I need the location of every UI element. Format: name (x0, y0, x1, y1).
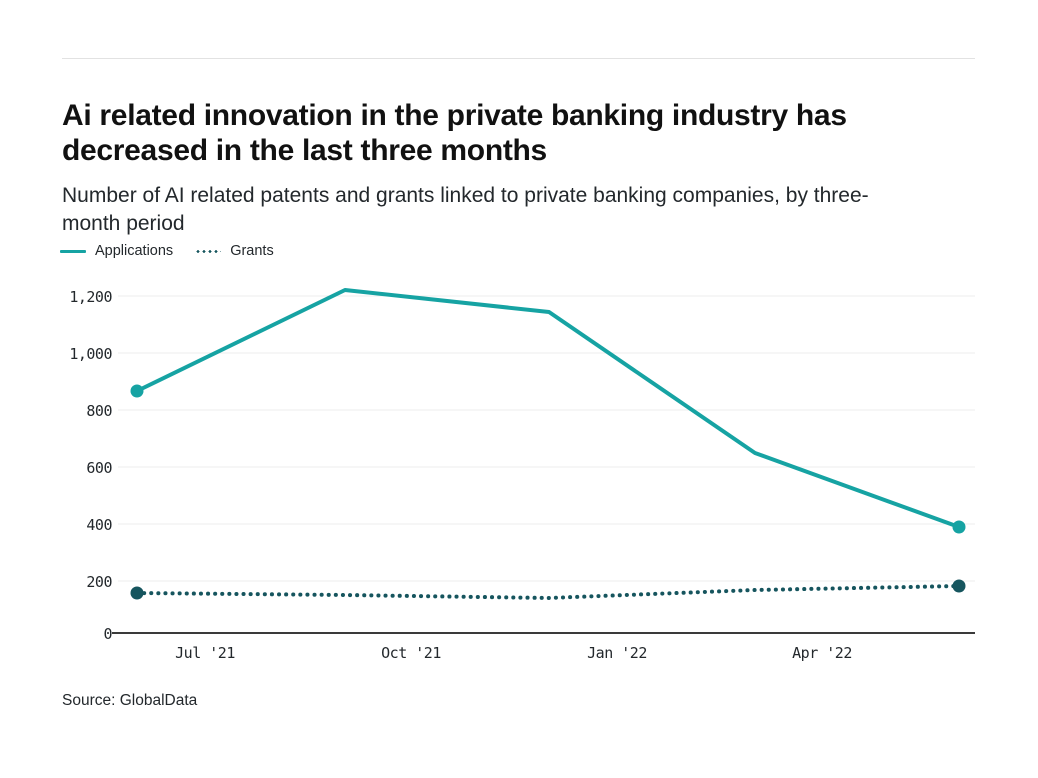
legend-label-applications: Applications (95, 243, 173, 259)
legend-item-applications[interactable]: Applications (60, 243, 173, 259)
y-tick-600: 600 (42, 459, 112, 477)
series-marker-grants-first (131, 587, 144, 600)
dotted-line-icon (195, 250, 221, 253)
x-tick-jan-22: Jan '22 (557, 644, 677, 662)
series-line-applications (137, 290, 959, 527)
series-marker-grants-last (953, 580, 966, 593)
x-tick-jul-21: Jul '21 (145, 644, 265, 662)
y-tick-800: 800 (42, 402, 112, 420)
legend-item-grants[interactable]: Grants (195, 243, 274, 259)
chart-legend: Applications Grants (60, 243, 274, 259)
x-tick-oct-21: Oct '21 (351, 644, 471, 662)
y-tick-400: 400 (42, 516, 112, 534)
y-tick-200: 200 (42, 573, 112, 591)
x-tick-apr-22: Apr '22 (762, 644, 882, 662)
top-divider (62, 58, 975, 59)
y-tick-1200: 1,200 (42, 288, 112, 306)
chart-page: Ai related innovation in the private ban… (0, 0, 1038, 778)
solid-line-icon (60, 250, 86, 253)
series-marker-applications-last (953, 521, 966, 534)
series-line-grants (137, 586, 959, 598)
source-note: Source: GlobalData (62, 692, 197, 710)
gridlines (118, 296, 975, 581)
y-tick-0: 0 (42, 625, 112, 643)
page-subtitle: Number of AI related patents and grants … (62, 182, 882, 238)
legend-label-grants: Grants (230, 243, 274, 259)
page-title: Ai related innovation in the private ban… (62, 98, 962, 169)
y-tick-1000: 1,000 (42, 345, 112, 363)
series-marker-applications-first (131, 385, 144, 398)
